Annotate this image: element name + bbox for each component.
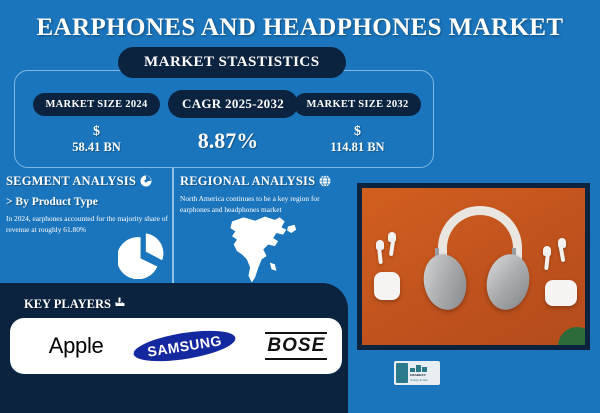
plant-leaf-decoration [545,319,590,350]
regional-analysis-heading: REGIONAL ANALYSIS [180,174,345,189]
key-players-logo-card:  Apple SAMSUNG BOSE [10,318,342,374]
stat-number: 114.81 BN [330,140,384,154]
key-players-heading: KEY PLAYERS [24,296,126,312]
segment-analysis-section: SEGMENT ANALYSIS > By Product Type In 20… [6,174,168,235]
charging-case-right [545,280,577,306]
stat-cagr: CAGR 2025-2032 8.87% [168,90,288,153]
regional-analysis-heading-label: REGIONAL ANALYSIS [180,174,315,189]
north-america-map-icon [218,210,302,284]
factory-icon [114,296,126,312]
segment-analysis-heading-label: SEGMENT ANALYSIS [6,174,136,189]
corporate-logo-name: IMARKET [410,373,438,377]
samsung-logo-icon: SAMSUNG [132,325,238,367]
stat-label: MARKET SIZE 2032 [294,93,420,116]
stat-number: 58.41 BN [72,140,121,154]
corporate-logo: IMARKET Strategy & Stats [394,361,440,385]
charging-case-left [374,272,400,300]
key-players-heading-label: KEY PLAYERS [24,297,111,312]
section-divider [172,168,174,283]
apple-logo-icon:  [25,333,46,360]
stat-market-size-2024: MARKET SIZE 2024 $ 58.41 BN [24,93,169,154]
stat-value: $ 114.81 BN [285,124,430,154]
stat-label: CAGR 2025-2032 [168,90,298,118]
stat-currency: $ [285,124,430,140]
brand-label: Apple [49,333,104,359]
bar-chart-icon [410,364,438,372]
stat-value: 8.87% [168,128,288,153]
stat-market-size-2032: MARKET SIZE 2032 $ 114.81 BN [285,93,430,154]
exploded-pie-icon [118,231,166,279]
lighthouse-icon [396,363,408,383]
stat-value: $ 58.41 BN [24,124,169,154]
infographic-canvas: EARPHONES AND HEADPHONES MARKET MARKET S… [0,0,600,400]
corporate-logo-tagline: Strategy & Stats [410,378,438,382]
globe-icon [319,175,331,189]
market-statistics-badge: MARKET STASTISTICS [118,47,346,78]
stat-label: MARKET SIZE 2024 [33,93,159,116]
corporate-logo-text: IMARKET Strategy & Stats [410,364,438,382]
bose-logo-icon: BOSE [265,332,327,360]
stat-currency: $ [24,124,169,140]
product-photo [357,183,590,350]
page-title: EARPHONES AND HEADPHONES MARKET [0,14,600,42]
brand-samsung: SAMSUNG [133,333,236,359]
pie-chart-icon [140,175,152,189]
segment-subheading: > By Product Type [6,196,168,208]
brand-bose: BOSE [265,332,327,360]
segment-analysis-heading: SEGMENT ANALYSIS [6,174,168,189]
brand-apple:  Apple [25,333,104,360]
